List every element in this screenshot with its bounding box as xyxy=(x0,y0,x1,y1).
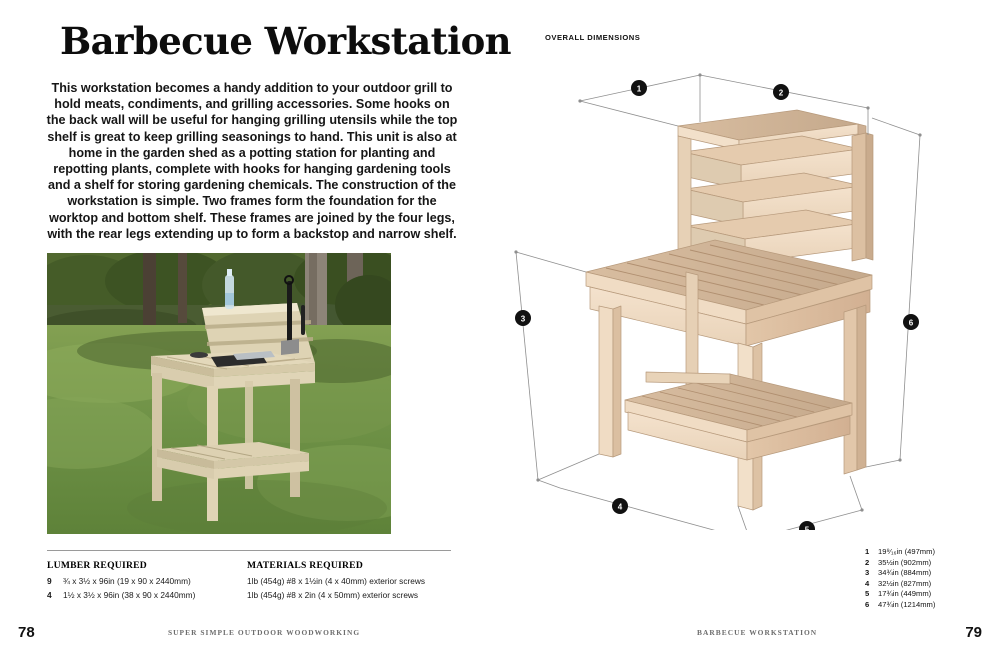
callout-3-label: 3 xyxy=(521,315,526,324)
material-row: 1lb (454g) #8 x 2in (4 x 50mm) exterior … xyxy=(247,590,451,601)
materials-heading: MATERIALS REQUIRED xyxy=(247,560,451,571)
legend-value: 35½in (902mm) xyxy=(878,558,931,569)
legend-value: 17¾in (449mm) xyxy=(878,589,931,600)
callout-1-label: 1 xyxy=(637,85,642,94)
running-head-left: SUPER SIMPLE OUTDOOR WOODWORKING xyxy=(168,628,360,637)
requirements-box: LUMBER REQUIRED 9 ¾ x 3½ x 96in (19 x 90… xyxy=(47,550,451,604)
lumber-description: ¾ x 3½ x 96in (19 x 90 x 2440mm) xyxy=(63,576,191,587)
left-page: Barbecue Workstation This workstation be… xyxy=(0,0,500,657)
material-row: 1lb (454g) #8 x 1½in (4 x 40mm) exterior… xyxy=(247,576,451,587)
lumber-description: 1½ x 3½ x 96in (38 x 90 x 2440mm) xyxy=(63,590,195,601)
callout-1: 1 xyxy=(631,80,647,96)
callout-4: 4 xyxy=(612,498,628,514)
callout-2-label: 2 xyxy=(779,89,784,98)
legend-item: 2 35½in (902mm) xyxy=(865,558,935,569)
legend-number: 6 xyxy=(865,600,878,611)
legend-value: 47¾in (1214mm) xyxy=(878,600,935,611)
page-title: Barbecue Workstation xyxy=(60,22,460,61)
lumber-quantity: 4 xyxy=(47,590,63,601)
project-photo xyxy=(47,253,391,534)
photo-illustration xyxy=(47,253,391,534)
legend-item: 3 34¾in (884mm) xyxy=(865,568,935,579)
callout-3: 3 xyxy=(515,310,531,326)
callout-6: 6 xyxy=(903,314,919,330)
page-number-right: 79 xyxy=(965,624,982,641)
lumber-quantity: 9 xyxy=(47,576,63,587)
legend-value: 32½in (827mm) xyxy=(878,579,931,590)
running-head-right: BARBECUE WORKSTATION xyxy=(697,628,817,637)
legend-number: 5 xyxy=(865,589,878,600)
legend-item: 5 17¾in (449mm) xyxy=(865,589,935,600)
lumber-row: 4 1½ x 3½ x 96in (38 x 90 x 2440mm) xyxy=(47,590,247,601)
lumber-row: 9 ¾ x 3½ x 96in (19 x 90 x 2440mm) xyxy=(47,576,247,587)
book-spread: Barbecue Workstation This workstation be… xyxy=(0,0,1000,657)
callout-5: 5 xyxy=(799,521,815,530)
legend-item: 1 19⁹⁄₁₆in (497mm) xyxy=(865,547,935,558)
isometric-drawing: 1 2 3 4 5 xyxy=(500,40,1000,530)
intro-paragraph: This workstation becomes a handy additio… xyxy=(46,80,458,242)
legend-value: 34¾in (884mm) xyxy=(878,568,931,579)
right-page: OVERALL DIMENSIONS xyxy=(500,0,1000,657)
callout-2: 2 xyxy=(773,84,789,100)
materials-column: MATERIALS REQUIRED 1lb (454g) #8 x 1½in … xyxy=(247,560,451,604)
legend-value: 19⁹⁄₁₆in (497mm) xyxy=(878,547,935,558)
lumber-heading: LUMBER REQUIRED xyxy=(47,560,247,571)
workstation-diagram: 1 2 3 4 5 xyxy=(500,40,1000,530)
legend-number: 2 xyxy=(865,558,878,569)
callout-4-label: 4 xyxy=(618,503,623,512)
legend-number: 1 xyxy=(865,547,878,558)
legend-number: 3 xyxy=(865,568,878,579)
legend-item: 4 32½in (827mm) xyxy=(865,579,935,590)
legend-item: 6 47¾in (1214mm) xyxy=(865,600,935,611)
callout-5-label: 5 xyxy=(805,526,810,531)
dimension-legend: 1 19⁹⁄₁₆in (497mm) 2 35½in (902mm) 3 34¾… xyxy=(865,547,935,611)
legend-number: 4 xyxy=(865,579,878,590)
page-number-left: 78 xyxy=(18,624,35,641)
lumber-column: LUMBER REQUIRED 9 ¾ x 3½ x 96in (19 x 90… xyxy=(47,560,247,604)
callout-6-label: 6 xyxy=(909,319,914,328)
